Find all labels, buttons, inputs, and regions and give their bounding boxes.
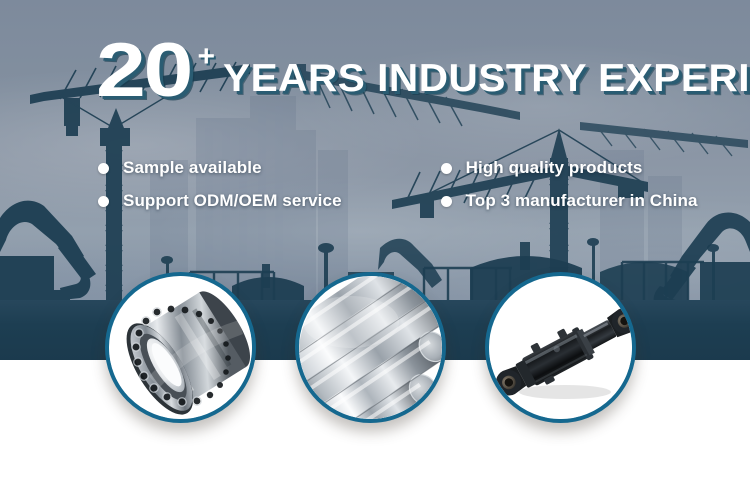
plus-superscript: + (198, 42, 216, 72)
steel-round-bars-icon (299, 276, 442, 419)
bullet-dot-icon (441, 196, 452, 207)
hydraulic-cylinder-icon (489, 276, 632, 419)
feature-label: Sample available (123, 158, 262, 178)
feature-label: Top 3 manufacturer in China (466, 191, 698, 211)
product-image-wrap (489, 276, 632, 419)
product-circle-flange[interactable] (105, 272, 256, 423)
tower-crane-far-right (580, 122, 748, 156)
feature-item-high-quality-products: High quality products (441, 158, 698, 178)
product-circle-hydraulic-cylinder[interactable] (485, 272, 636, 423)
feature-list: Sample available Support ODM/OEM service… (98, 158, 698, 211)
headline-text: YEARS INDUSTRY EXPERIENCE (223, 59, 750, 98)
feature-column-right: High quality products Top 3 manufacturer… (441, 158, 698, 211)
promo-banner: 20 + YEARS INDUSTRY EXPERIENCE Sample av… (0, 0, 750, 482)
years-count-wrap: 20 + (96, 40, 215, 102)
bullet-dot-icon (98, 163, 109, 174)
bullet-dot-icon (98, 196, 109, 207)
product-image-wrap (109, 276, 252, 419)
feature-label: High quality products (466, 158, 643, 178)
product-circle-round-bars[interactable] (295, 272, 446, 423)
product-circle-group (0, 272, 750, 432)
feature-item-odm-oem-service: Support ODM/OEM service (98, 191, 342, 211)
feature-item-top-3-manufacturer: Top 3 manufacturer in China (441, 191, 698, 211)
feature-item-sample-available: Sample available (98, 158, 342, 178)
headline: 20 + YEARS INDUSTRY EXPERIENCE (96, 40, 750, 102)
steel-flange-pipe-icon (109, 276, 252, 419)
product-image-wrap (299, 276, 442, 419)
bullet-dot-icon (441, 163, 452, 174)
feature-column-left: Sample available Support ODM/OEM service (98, 158, 342, 211)
years-count: 20 (96, 40, 191, 102)
feature-label: Support ODM/OEM service (123, 191, 342, 211)
